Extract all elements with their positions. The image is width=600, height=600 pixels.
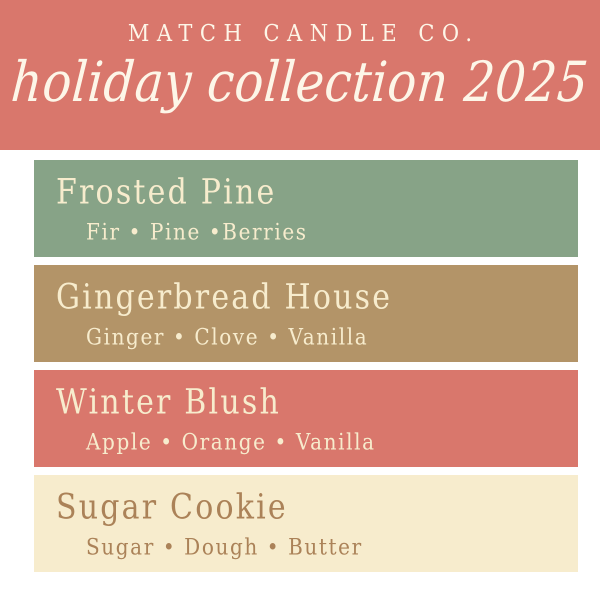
scent-notes: Ginger • Clove • Vanilla (86, 323, 578, 350)
scent-notes: Apple • Orange • Vanilla (86, 428, 578, 455)
scent-bar-gingerbread-house[interactable]: Gingerbread House Ginger • Clove • Vanil… (34, 265, 578, 362)
collection-title: holiday collection 2025 (9, 55, 590, 110)
scent-bar-list: Frosted Pine Fir • Pine •Berries Gingerb… (34, 160, 578, 572)
scent-bar-winter-blush[interactable]: Winter Blush Apple • Orange • Vanilla (34, 370, 578, 467)
scent-notes: Fir • Pine •Berries (86, 218, 578, 245)
scent-name: Gingerbread House (56, 279, 578, 317)
scent-bar-frosted-pine[interactable]: Frosted Pine Fir • Pine •Berries (34, 160, 578, 257)
scent-bar-sugar-cookie[interactable]: Sugar Cookie Sugar • Dough • Butter (34, 475, 578, 572)
scent-name: Sugar Cookie (56, 489, 578, 527)
poster-header: MATCH CANDLE CO. holiday collection 2025 (0, 0, 600, 150)
scent-name: Frosted Pine (56, 174, 578, 212)
script-title-wrap: holiday collection 2025 (0, 59, 600, 106)
candle-collection-poster: MATCH CANDLE CO. holiday collection 2025… (0, 0, 600, 600)
scent-name: Winter Blush (56, 384, 578, 422)
scent-notes: Sugar • Dough • Butter (86, 533, 578, 560)
brand-name: MATCH CANDLE CO. (120, 22, 479, 46)
